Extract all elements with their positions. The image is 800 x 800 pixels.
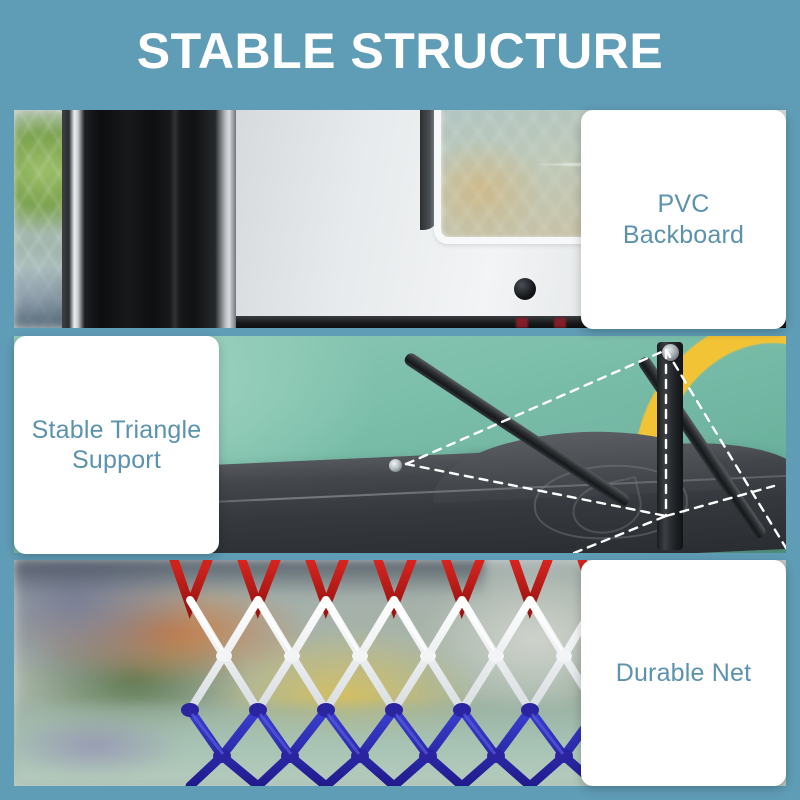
product-feature-poster: STABLE STRUCTURE [0,0,800,800]
feature-label-line-2: Support [72,446,161,474]
feature-label-line-1: Durable Net [616,659,752,687]
backboard-mounting-bolt [514,278,536,300]
pole-joint-bolt [662,344,679,361]
feature-label-durable-net: Durable Net [616,658,752,689]
feature-label-line-1: Stable Triangle [32,416,202,444]
post-highlight [170,110,180,328]
support-post [62,110,236,328]
feature-label-pvc-backboard: PVC Backboard [623,189,744,250]
poster-header: STABLE STRUCTURE [0,0,800,102]
feature-card-stable-triangle-support[interactable]: Stable Triangle Support [14,336,219,554]
feature-card-pvc-backboard[interactable]: PVC Backboard [581,110,786,329]
page-title: STABLE STRUCTURE [137,26,664,76]
feature-label-stable-triangle-support: Stable Triangle Support [32,415,202,476]
pole-foot-bolt [389,459,402,472]
feature-card-durable-net[interactable]: Durable Net [581,560,786,786]
net-white-knots [216,650,572,662]
basketball-net [164,560,644,786]
vertical-support-pole [657,342,683,550]
background-purple-blur [14,716,184,776]
feature-label-line-2: Backboard [623,221,744,249]
feature-label-line-1: PVC [657,190,709,218]
